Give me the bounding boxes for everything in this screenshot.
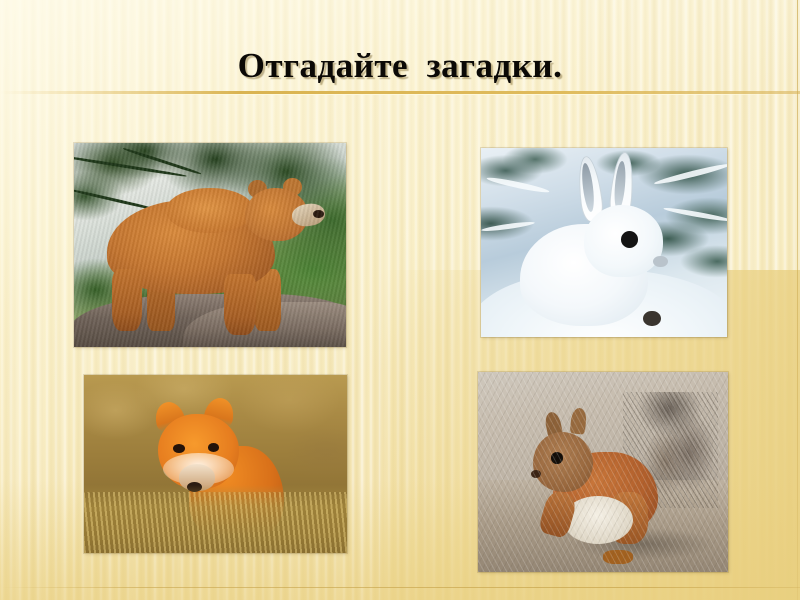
hare-photo[interactable] xyxy=(481,148,727,337)
bear-fur-texture xyxy=(74,143,346,347)
title-divider-highlight xyxy=(0,94,800,95)
slide-canvas: Отгадайте загадки. xyxy=(0,0,800,600)
bottom-divider-line xyxy=(0,587,800,588)
squirrel-ground-texture xyxy=(478,372,728,572)
bear-scene xyxy=(74,143,346,347)
fox-scene xyxy=(84,375,347,553)
fox-grass-texture xyxy=(84,492,347,553)
hare-scene xyxy=(481,148,727,337)
page-title: Отгадайте загадки. xyxy=(0,46,800,86)
hare-paw xyxy=(643,311,660,326)
fox-eye-right xyxy=(208,443,220,452)
squirrel-photo[interactable] xyxy=(478,372,728,572)
hare-nose xyxy=(653,256,668,267)
fox-photo[interactable] xyxy=(84,375,347,553)
squirrel-scene xyxy=(478,372,728,572)
title-block: Отгадайте загадки. xyxy=(0,46,800,102)
bear-photo[interactable] xyxy=(74,143,346,347)
